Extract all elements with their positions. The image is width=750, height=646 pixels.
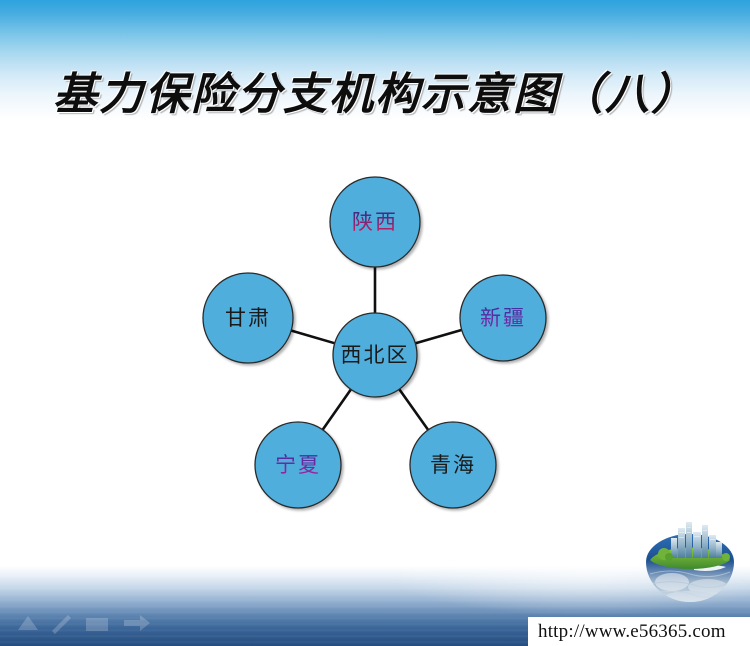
diagram-node-shaanxi[interactable]: 陕西 <box>330 177 420 267</box>
page-title: 基力保险分支机构示意图（八） <box>0 58 750 122</box>
globe-city-logo-icon <box>638 516 742 606</box>
site-url[interactable]: http://www.e56365.com <box>538 621 726 643</box>
connector-hub-to-xinjiang <box>413 329 463 344</box>
connector-hub-to-ningxia <box>322 388 353 432</box>
diagram-node-ningxia[interactable]: 宁夏 <box>255 422 341 508</box>
node-layer: 西北区陕西甘肃新疆宁夏青海 <box>203 177 546 508</box>
org-diagram: 西北区陕西甘肃新疆宁夏青海 <box>180 160 580 520</box>
org-diagram-svg: 西北区陕西甘肃新疆宁夏青海 <box>180 160 580 520</box>
connector-hub-to-gansu <box>289 330 336 344</box>
node-label-qinghai: 青海 <box>430 453 476 477</box>
diagram-node-hub[interactable]: 西北区 <box>333 313 417 397</box>
node-label-ningxia: 宁夏 <box>275 453 321 477</box>
diagram-node-xinjiang[interactable]: 新疆 <box>460 275 546 361</box>
node-label-xinjiang: 新疆 <box>480 306 526 330</box>
diagram-node-qinghai[interactable]: 青海 <box>410 422 496 508</box>
diagram-node-gansu[interactable]: 甘肃 <box>203 273 293 363</box>
url-bar: http://www.e56365.com <box>528 617 750 646</box>
node-label-shaanxi: 陕西 <box>352 210 398 234</box>
connector-hub-to-qinghai <box>398 388 429 432</box>
node-label-gansu: 甘肃 <box>225 306 271 330</box>
slide-canvas: 基力保险分支机构示意图（八） <box>0 0 750 646</box>
node-label-hub: 西北区 <box>341 343 410 367</box>
